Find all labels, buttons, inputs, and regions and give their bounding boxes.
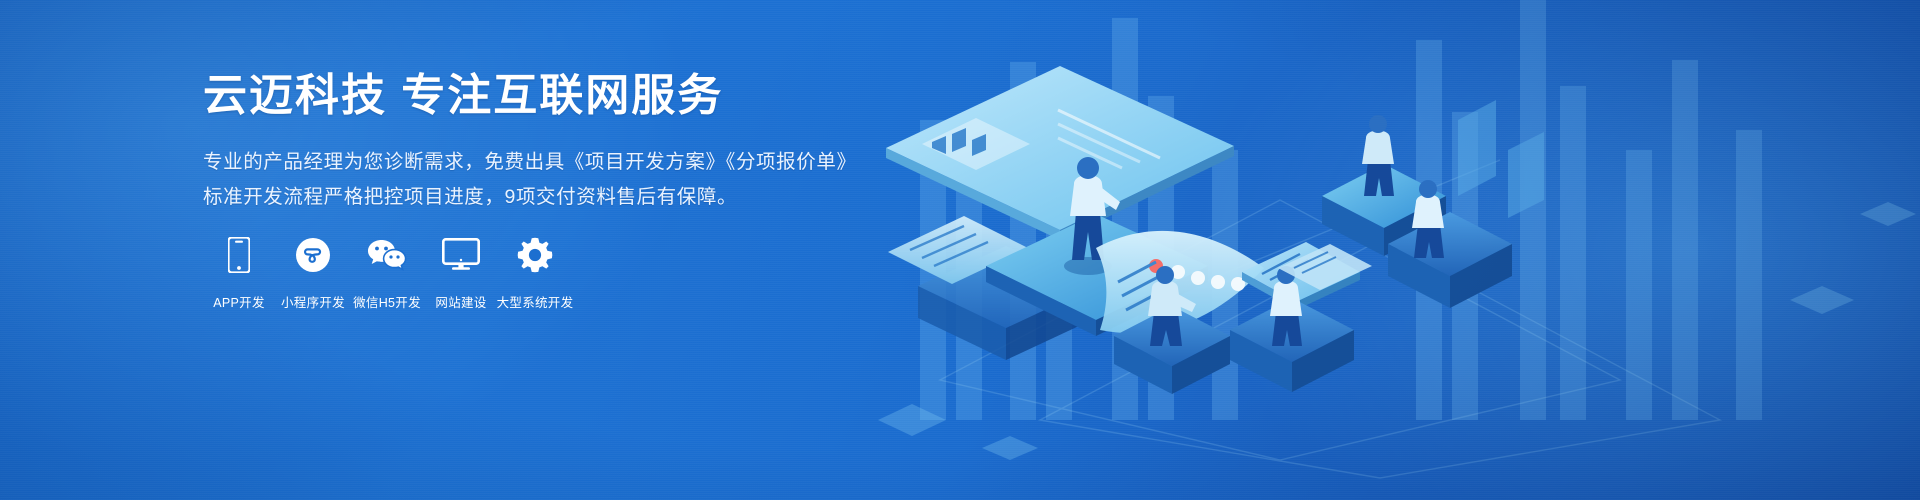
service-item-website[interactable]: 网站建设 [425,232,497,311]
subcopy-line-1: 专业的产品经理为您诊断需求，免费出具《项目开发方案》《分项报价单》 [203,145,903,180]
hero-copy: 云迈科技 专注互联网服务 专业的产品经理为您诊断需求，免费出具《项目开发方案》《… [203,68,903,216]
page-title: 云迈科技 专注互联网服务 [203,68,903,123]
service-label: 大型系统开发 [497,292,574,311]
hero-subcopy: 专业的产品经理为您诊断需求，免费出具《项目开发方案》《分项报价单》 标准开发流程… [203,145,903,216]
isometric-illustration [860,0,1920,500]
monitor-icon [442,232,480,278]
mobile-phone-icon [228,232,250,278]
hero-banner: 云迈科技 专注互联网服务 专业的产品经理为您诊断需求，免费出具《项目开发方案》《… [0,0,1920,500]
service-item-large-system[interactable]: 大型系统开发 [499,232,571,311]
service-item-app[interactable]: APP开发 [203,232,275,311]
service-label: 网站建设 [435,292,486,311]
subcopy-line-2: 标准开发流程严格把控项目进度，9项交付资料售后有保障。 [203,180,903,215]
wechat-icon [367,232,407,278]
mini-program-icon [296,232,330,278]
service-item-mini-program[interactable]: 小程序开发 [277,232,349,311]
service-label: APP开发 [213,292,265,311]
gear-icon [517,232,553,278]
service-label: 微信H5开发 [353,292,421,311]
service-item-wechat-h5[interactable]: 微信H5开发 [351,232,423,311]
service-list: APP开发 小程序开发 微信 [203,232,573,311]
service-label: 小程序开发 [281,292,345,311]
